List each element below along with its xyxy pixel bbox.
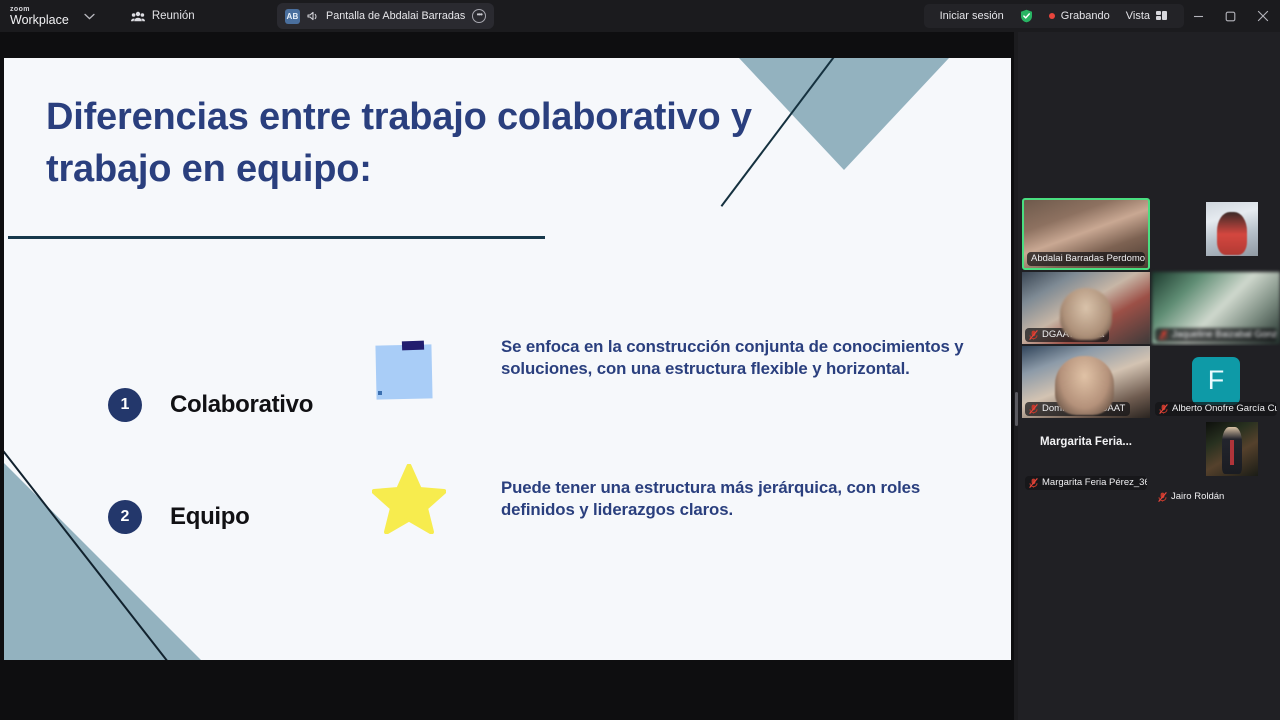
sticky-note-icon xyxy=(376,341,432,399)
tab-avatar: AB xyxy=(285,9,300,24)
more-options-icon[interactable]: ••• xyxy=(472,9,486,23)
participant-tile[interactable] xyxy=(1206,202,1258,256)
participant-nameplate: Margarita Feria Pérez_36948 xyxy=(1025,476,1147,490)
speaker-icon xyxy=(307,11,319,22)
presentation-slide: Diferencias entre trabajo colaborativo y… xyxy=(4,58,1011,660)
sign-in-button[interactable]: Iniciar sesión xyxy=(932,4,1012,28)
muted-mic-icon xyxy=(1159,330,1168,340)
participant-name: Jairo Roldán xyxy=(1171,491,1224,502)
participant-name: DGAAT-Julieta xyxy=(1042,329,1104,340)
zoom-meeting-window: zoom Workplace Reunión AB xyxy=(0,0,1280,720)
recording-label: Grabando xyxy=(1061,10,1110,22)
close-icon[interactable] xyxy=(1246,0,1280,32)
participant-name: Alberto Onofre García Cuel... xyxy=(1172,403,1277,414)
participant-name: Jaqueline Baizabal González xyxy=(1172,329,1277,340)
chevron-down-icon[interactable] xyxy=(81,5,99,27)
recording-dot-icon xyxy=(1049,13,1055,19)
participant-tile[interactable]: Abdalai Barradas Perdomo xyxy=(1022,198,1150,270)
window-controls xyxy=(1182,0,1280,32)
participant-tiles: Abdalai Barradas Perdomo Andrea Zavaleta… xyxy=(1018,198,1280,518)
participants-panel: Abdalai Barradas Perdomo Andrea Zavaleta… xyxy=(1018,32,1280,720)
titlebar-right-group: Iniciar sesión Grabando Vista xyxy=(924,4,1184,28)
sign-in-label: Iniciar sesión xyxy=(940,10,1004,22)
muted-mic-icon xyxy=(1158,492,1167,502)
maximize-icon[interactable] xyxy=(1214,0,1246,32)
page-title: Diferencias entre trabajo colaborativo y… xyxy=(46,92,846,195)
muted-mic-icon xyxy=(1029,404,1038,414)
participant-nameplate: Jaqueline Baizabal González xyxy=(1155,328,1277,342)
view-label: Vista xyxy=(1126,10,1150,22)
brand-workplace-text: Workplace xyxy=(10,14,69,27)
sticky-note-tape xyxy=(402,341,424,351)
participant-tile[interactable]: Margarita Feria... Margarita Feria Pérez… xyxy=(1022,420,1150,492)
brand-zoom-text: zoom xyxy=(10,6,69,13)
title-underline xyxy=(8,236,545,239)
item-number-badge: 2 xyxy=(108,500,142,534)
participant-tile[interactable]: F Alberto Onofre García Cuel... xyxy=(1152,346,1280,418)
participant-nameplate: Domínguez DGAAT xyxy=(1025,402,1130,416)
participant-name: Domínguez DGAAT xyxy=(1042,403,1125,414)
participant-tile[interactable]: Domínguez DGAAT xyxy=(1022,346,1150,418)
view-button[interactable]: Vista xyxy=(1118,4,1176,28)
participant-display-name: Margarita Feria... xyxy=(1022,436,1150,448)
participant-name: Abdalai Barradas Perdomo xyxy=(1031,253,1145,264)
sticky-note-paper xyxy=(375,344,432,399)
participant-tile[interactable]: DGAAT-Julieta xyxy=(1022,272,1150,344)
participant-nameplate: Abdalai Barradas Perdomo xyxy=(1027,252,1145,266)
layout-grid-icon xyxy=(1156,11,1168,22)
participant-tile[interactable] xyxy=(1206,422,1258,476)
list-item: 1 Colaborativo xyxy=(108,388,313,422)
sticky-note-corner-dot xyxy=(378,391,382,395)
participant-nameplate: DGAAT-Julieta xyxy=(1025,328,1109,342)
share-screen-tab[interactable]: AB Pantalla de Abdalai Barradas ••• xyxy=(277,3,494,29)
participant-nameplate: Alberto Onofre García Cuel... xyxy=(1155,402,1277,416)
meeting-button[interactable]: Reunión xyxy=(125,4,201,28)
people-icon xyxy=(131,11,145,22)
title-bar: zoom Workplace Reunión AB xyxy=(0,0,1280,32)
list-item: 2 Equipo xyxy=(108,500,250,534)
minimize-icon[interactable] xyxy=(1182,0,1214,32)
participant-name: Margarita Feria Pérez_36948 xyxy=(1042,477,1147,488)
participant-nameplate: Jairo Roldán xyxy=(1154,478,1229,516)
avatar: F xyxy=(1192,357,1240,405)
item-description: Se enfoca en la construcción conjunta de… xyxy=(501,336,979,380)
zoom-workplace-logo: zoom Workplace xyxy=(10,6,69,27)
meeting-label: Reunión xyxy=(152,10,195,22)
muted-mic-icon xyxy=(1159,404,1168,414)
muted-mic-icon xyxy=(1029,330,1038,340)
item-number-badge: 1 xyxy=(108,388,142,422)
item-label: Colaborativo xyxy=(170,391,313,419)
item-description: Puede tener una estructura más jerárquic… xyxy=(501,477,979,521)
shared-screen-stage: Diferencias entre trabajo colaborativo y… xyxy=(0,32,1014,720)
shield-check-icon[interactable] xyxy=(1012,4,1041,28)
star-icon xyxy=(372,464,446,534)
participant-tile[interactable]: Jaqueline Baizabal González xyxy=(1152,272,1280,344)
recording-indicator[interactable]: Grabando xyxy=(1041,4,1118,28)
share-tab-label: Pantalla de Abdalai Barradas xyxy=(326,10,465,22)
item-label: Equipo xyxy=(170,503,250,531)
muted-mic-icon xyxy=(1029,478,1038,488)
